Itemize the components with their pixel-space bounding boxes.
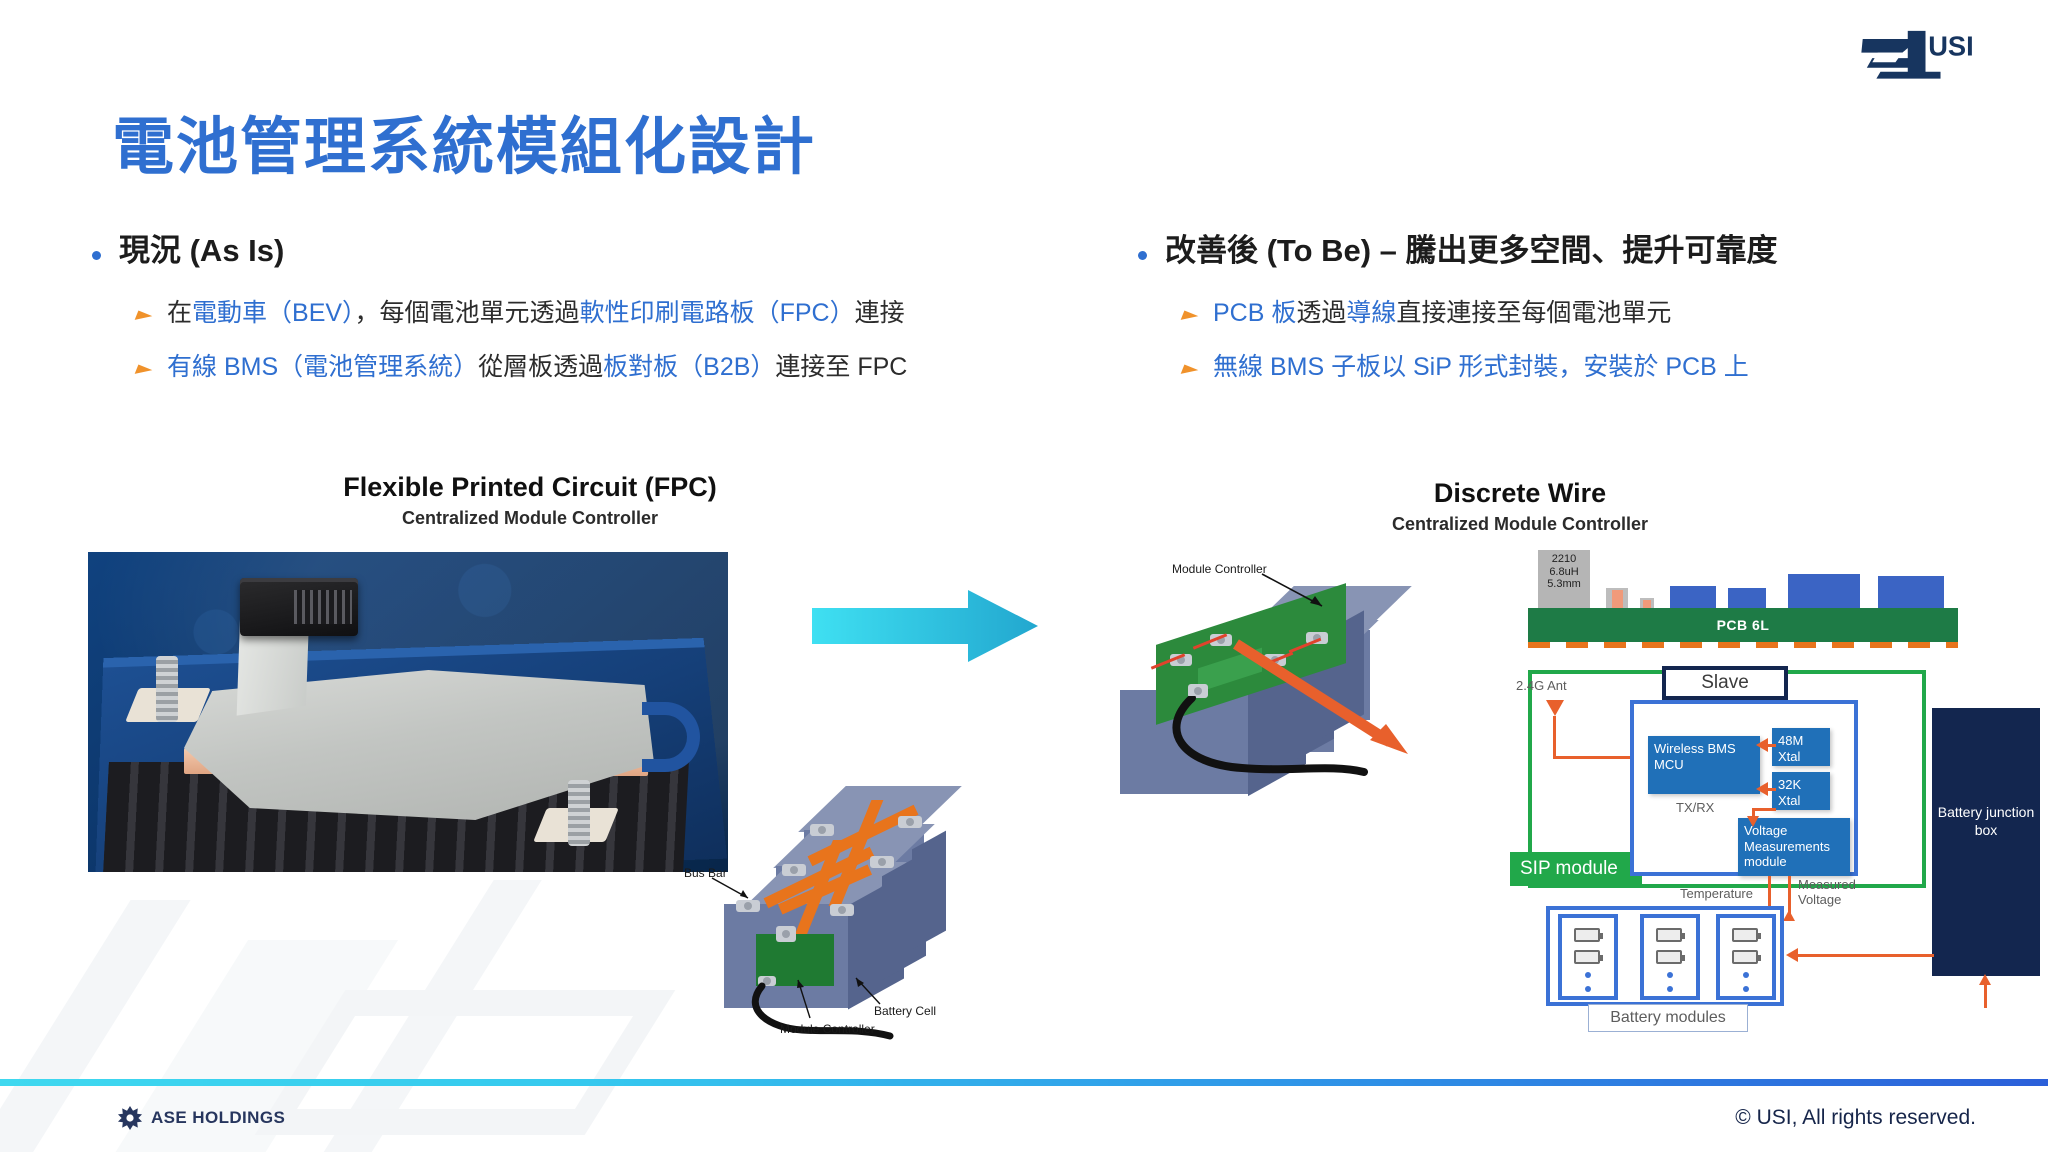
arrow-bullet-icon [1181,365,1199,380]
antenna-trace [1553,716,1556,758]
signal-trace [1752,808,1776,811]
left-heading-row: 現況 (As Is) [92,232,1032,271]
figure-right-title: Discrete Wire [1370,478,1670,509]
antenna-icon [1546,700,1564,716]
battery-icon [1656,950,1682,964]
inductor-component: 2210 6.8uH 5.3mm [1538,550,1590,608]
arrow-bullet-icon [135,310,153,325]
battery-icon [1574,928,1600,942]
arrow-bullet-icon [135,365,153,380]
usi-logo: USI [1860,22,1976,82]
ellipsis-dot [1585,986,1591,992]
right-heading-row: 改善後 (To Be) – 騰出更多空間、提升可靠度 [1138,232,2018,271]
seg: 透過 [1296,299,1346,327]
ase-gear-icon [118,1106,142,1130]
column-right: 改善後 (To Be) – 騰出更多空間、提升可靠度 PCB 板透過導線直接連接… [1138,232,2018,384]
arrow-head-icon [1756,782,1770,796]
ic-component [1788,574,1860,608]
arrow-head-icon [1783,910,1797,922]
measured-voltage-label: Measured Voltage [1798,878,1868,908]
seg-highlight: 軟性印刷電路板（FPC） [580,299,855,327]
fpc-cell-schematic: Bus Bar Module Controller Battery Cell [700,778,980,1048]
pcb-solder-pads [1528,642,1958,648]
left-subbullet-2: 有線 BMS（電池管理系統）從層板透過板對板（B2B）連接至 FPC [136,351,1032,384]
right-subbullet-2-text: 無線 BMS 子板以 SiP 形式封裝，安裝於 PCB 上 [1213,351,1749,384]
usi-logo-text: USI [1928,30,1973,61]
bullet-dot-icon [1138,251,1147,260]
callout-module-controller: Module Controller [780,1022,875,1036]
wireless-bms-mcu-block: Wireless BMS MCU [1648,736,1760,794]
callout-leader-line [710,876,756,904]
terminal-bolt [568,780,590,846]
ic-component [1728,588,1766,608]
seg: 直接連接至每個電池單元 [1396,299,1671,327]
arrow-bullet-icon [1181,310,1199,325]
callout-module-controller: Module Controller [1172,562,1267,576]
junction-trace [1792,954,1934,957]
figure-left-subtitle: Centralized Module Controller [300,508,760,529]
left-subbullet-2-text: 有線 BMS（電池管理系統）從層板透過板對板（B2B）連接至 FPC [167,351,907,384]
arrow-head-icon [1786,948,1800,962]
seg-highlight: PCB 板 [1213,299,1296,327]
xtal-48m-block: 48M Xtal [1772,728,1830,766]
ellipsis-dot [1585,972,1591,978]
smd-component [1643,600,1651,608]
ellipsis-dot [1667,986,1673,992]
arrow-head-icon [1756,738,1770,752]
footer-divider [0,1079,2048,1086]
background-chevron-ring [255,990,676,1135]
connector-pad [776,926,796,942]
seg: 連接至 FPC [775,353,907,381]
seg: 連接 [855,299,905,327]
arrow-head-icon [1979,974,1993,986]
battery-module [1640,914,1700,1000]
right-subbullet-2: 無線 BMS 子板以 SiP 形式封裝，安裝於 PCB 上 [1182,351,2018,384]
fpc-battery-photo [88,552,728,872]
terminal-pad [870,856,894,868]
ellipsis-dot [1667,972,1673,978]
ellipsis-dot [1743,972,1749,978]
antenna-label: 2.4G Ant [1516,678,1567,693]
battery-icon [1732,928,1758,942]
seg: 從層板透過 [478,353,603,381]
battery-icon [1732,950,1758,964]
right-heading: 改善後 (To Be) – 騰出更多空間、提升可靠度 [1165,232,1778,271]
fpc-connector [240,578,358,636]
slave-label: Slave [1662,666,1788,700]
copyright-text: © USI, All rights reserved. [1735,1106,1976,1130]
seg: ，每個電池單元透過 [355,299,580,327]
figure-caption-left: Flexible Printed Circuit (FPC) Centraliz… [300,472,760,529]
figure-right-subtitle: Centralized Module Controller [1370,514,1670,535]
seg-highlight: 電動車（BEV） [192,299,355,327]
callout-leader-line [792,976,818,1022]
battery-junction-box: Battery junction box [1932,708,2040,976]
left-heading: 現況 (As Is) [119,232,284,271]
xtal-32k-block: 32K Xtal [1772,772,1830,810]
terminal-bolt [156,656,178,722]
column-left: 現況 (As Is) 在電動車（BEV），每個電池單元透過軟性印刷電路板（FPC… [92,232,1032,384]
pcb-layer-label: PCB 6L [1528,608,1958,642]
figure-left-title: Flexible Printed Circuit (FPC) [300,472,760,503]
terminal-pad [830,904,854,916]
battery-module [1716,914,1776,1000]
temperature-label: Temperature [1680,886,1753,901]
callout-leader-line [1260,572,1334,620]
figure-caption-right: Discrete Wire Centralized Module Control… [1370,478,1670,535]
inductor-line-2: 6.8uH [1538,566,1590,579]
seg: 在 [167,299,192,327]
ase-holdings-logo: ASE HOLDINGS [118,1106,285,1130]
battery-module [1558,914,1618,1000]
inductor-line-1: 2210 [1538,553,1590,566]
ase-holdings-text: ASE HOLDINGS [151,1108,285,1128]
sip-block-diagram: 2210 6.8uH 5.3mm PCB 6L SIP module 2.4G … [1510,560,2010,1060]
battery-icon [1656,928,1682,942]
seg-highlight: 有線 BMS（電池管理系統） [167,353,478,381]
left-subbullet-1: 在電動車（BEV），每個電池單元透過軟性印刷電路板（FPC）連接 [136,297,1032,330]
bullet-dot-icon [92,251,101,260]
seg-highlight: 導線 [1346,299,1396,327]
sip-module-label: SIP module [1510,852,1642,886]
transition-arrow-icon [812,588,1038,664]
right-subbullet-1: PCB 板透過導線直接連接至每個電池單元 [1182,297,2018,330]
ic-component [1878,576,1944,608]
left-subbullet-1-text: 在電動車（BEV），每個電池單元透過軟性印刷電路板（FPC）連接 [167,297,905,330]
terminal-pad [810,824,834,836]
battery-modules-label: Battery modules [1588,1004,1748,1032]
terminal-pad [898,816,922,828]
right-subbullet-1-text: PCB 板透過導線直接連接至每個電池單元 [1213,297,1671,330]
seg-highlight: 板對板（B2B） [603,353,775,381]
arrow-head-icon [1747,816,1761,828]
ellipsis-dot [1743,986,1749,992]
page-title: 電池管理系統模組化設計 [112,96,816,186]
txrx-label: TX/RX [1676,800,1714,815]
smd-component [1612,590,1623,608]
ic-component [1670,586,1716,608]
terminal-pad [782,864,806,876]
sip-pointer-arrow-icon [1230,638,1430,768]
slide-canvas: USI 電池管理系統模組化設計 現況 (As Is) 在電動車（BEV），每個電… [0,0,2048,1152]
callout-leader-line [850,974,886,1010]
inductor-line-3: 5.3mm [1538,578,1590,591]
battery-icon [1574,950,1600,964]
cell-side-face [912,831,946,950]
